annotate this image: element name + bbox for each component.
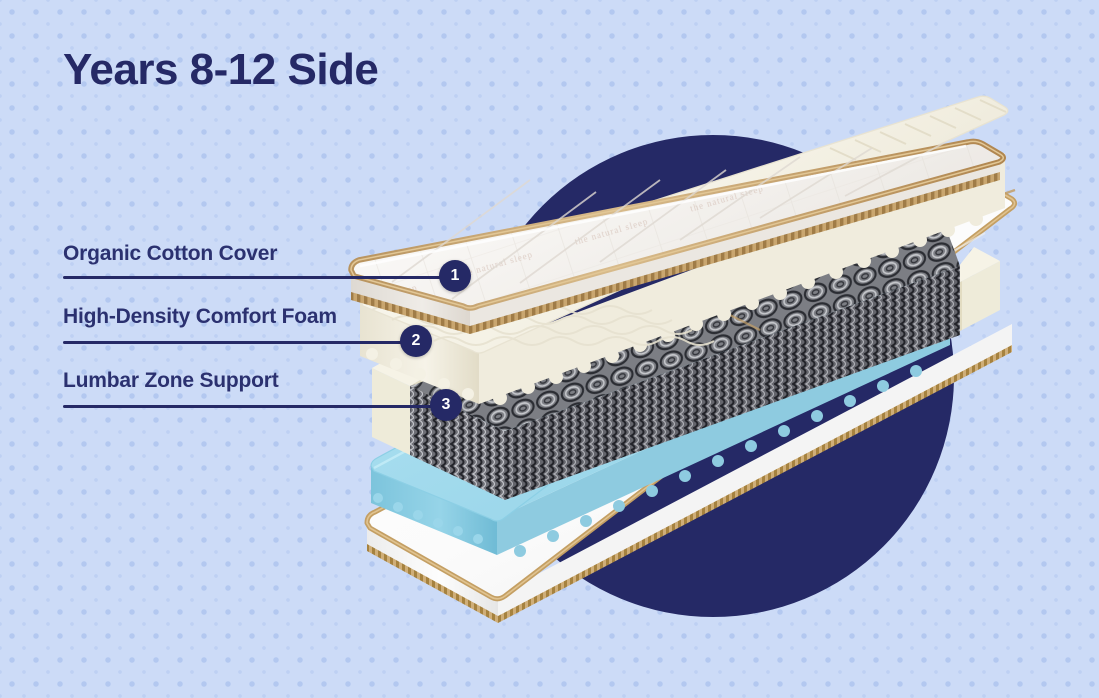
callout-1-leader-line [63, 276, 445, 279]
callout-2-leader-line [63, 341, 404, 344]
callout-1-label: Organic Cotton Cover [63, 242, 277, 266]
callout-1-badge[interactable]: 1 [439, 260, 471, 292]
callout-2-badge[interactable]: 2 [400, 325, 432, 357]
callout-3-badge[interactable]: 3 [430, 389, 462, 421]
page-title: Years 8-12 Side [63, 45, 378, 95]
infographic-canvas: the natural sleep naturally [0, 0, 1099, 698]
callout-2-label: High-Density Comfort Foam [63, 305, 337, 329]
exploded-mattress-illustration: the natural sleep naturally [0, 0, 1099, 698]
callout-3-leader-line [63, 405, 433, 408]
callout-3-label: Lumbar Zone Support [63, 369, 279, 393]
